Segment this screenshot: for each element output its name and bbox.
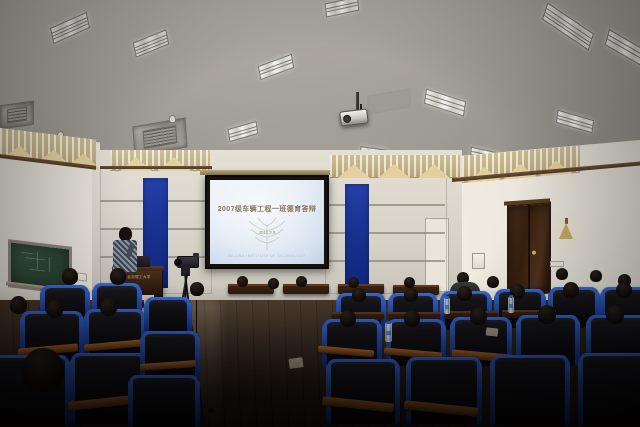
audience-head [487, 276, 499, 288]
audience-head [296, 276, 307, 287]
audience-head [190, 282, 204, 296]
audience-head [404, 310, 420, 327]
water-bottle[interactable] [444, 298, 450, 314]
audience-head [10, 296, 27, 314]
wall-seam [325, 260, 445, 262]
seat-side [195, 380, 200, 427]
auditorium-seat[interactable] [494, 358, 566, 426]
wall-control-panel[interactable] [472, 253, 485, 269]
seat-back [582, 356, 640, 426]
audience-head [100, 298, 117, 316]
slide-title: 2007级车辆工程一班德育答辩 [210, 204, 324, 214]
seat-side [65, 360, 70, 426]
seat-side [140, 336, 145, 378]
audience-head [563, 282, 579, 298]
seat-side [70, 358, 75, 424]
paper-on-desk[interactable] [486, 327, 499, 336]
audience-head [268, 278, 279, 289]
projected-slide: 2007级车辆工程一班德育答辩 2011.3.9 BEIJING INSTITU… [210, 180, 324, 264]
projector-lens [343, 114, 352, 123]
lecture-hall-photo: 2007级车辆工程一班德育答辩 2011.3.9 BEIJING INSTITU… [0, 0, 640, 427]
auditorium-seat[interactable] [330, 362, 396, 424]
seat-back [330, 362, 396, 424]
audience-head [110, 268, 126, 285]
seat-side [144, 302, 149, 332]
auditorium-seat[interactable] [88, 312, 142, 358]
seat-back [148, 300, 188, 332]
audience-head [46, 300, 63, 318]
water-bottle[interactable] [385, 323, 392, 342]
audience-head [352, 288, 366, 302]
audience-head [237, 276, 248, 287]
seat-back [494, 358, 566, 426]
wall-seam [325, 204, 445, 206]
audience-head [404, 288, 418, 302]
seat-back [88, 312, 142, 358]
auditorium-seat[interactable] [148, 300, 188, 332]
auditorium-seat[interactable] [144, 334, 196, 378]
seat-side [406, 362, 411, 424]
water-bottle[interactable] [508, 297, 514, 313]
seat-side [395, 364, 400, 424]
seat-side [565, 360, 570, 426]
desk [283, 284, 329, 294]
slide-organization: BEIJING INSTITUTE OF TECHNOLOGY [210, 254, 324, 258]
seat-side [195, 336, 200, 378]
wall-trim [100, 166, 212, 169]
audience-head [62, 268, 78, 285]
sprinkler-head [169, 115, 176, 123]
seat-side [187, 302, 192, 332]
auditorium-seat[interactable] [582, 356, 640, 426]
seat-side [128, 380, 133, 427]
auditorium-seat[interactable] [132, 378, 196, 427]
wall-seam [325, 232, 445, 234]
audience-head [556, 268, 568, 280]
desk [228, 284, 274, 294]
audience-head [457, 286, 472, 301]
entrance-door[interactable] [507, 201, 551, 296]
seat-side [84, 314, 89, 358]
audience-head [538, 305, 556, 324]
audience-head [22, 348, 64, 392]
seat-side [326, 364, 331, 424]
audience-head [348, 277, 359, 288]
audience-head [616, 282, 632, 298]
seat-back [132, 378, 196, 427]
slide-date: 2011.3.9 [210, 230, 324, 235]
audience-head [590, 270, 602, 282]
projection-screen: 2007级车辆工程一班德育答辩 2011.3.9 BEIJING INSTITU… [205, 175, 329, 269]
seat-side [490, 360, 495, 426]
wall-switch-plate[interactable] [77, 272, 87, 281]
audience-head [606, 305, 624, 324]
seat-back [144, 334, 196, 378]
camera-viewfinder [193, 253, 199, 258]
wall-sconce[interactable] [559, 223, 573, 239]
wall-sign [550, 261, 564, 267]
ac-vent [0, 101, 34, 130]
paper-on-desk[interactable] [288, 357, 303, 369]
seat-side [578, 358, 583, 426]
audience-head [404, 277, 415, 288]
audience-head [340, 310, 356, 327]
seat-side [477, 362, 482, 424]
curtain-valance [330, 155, 460, 178]
presenter-head [119, 227, 132, 241]
blue-accent-panel [345, 184, 369, 290]
audience-head [470, 307, 487, 325]
